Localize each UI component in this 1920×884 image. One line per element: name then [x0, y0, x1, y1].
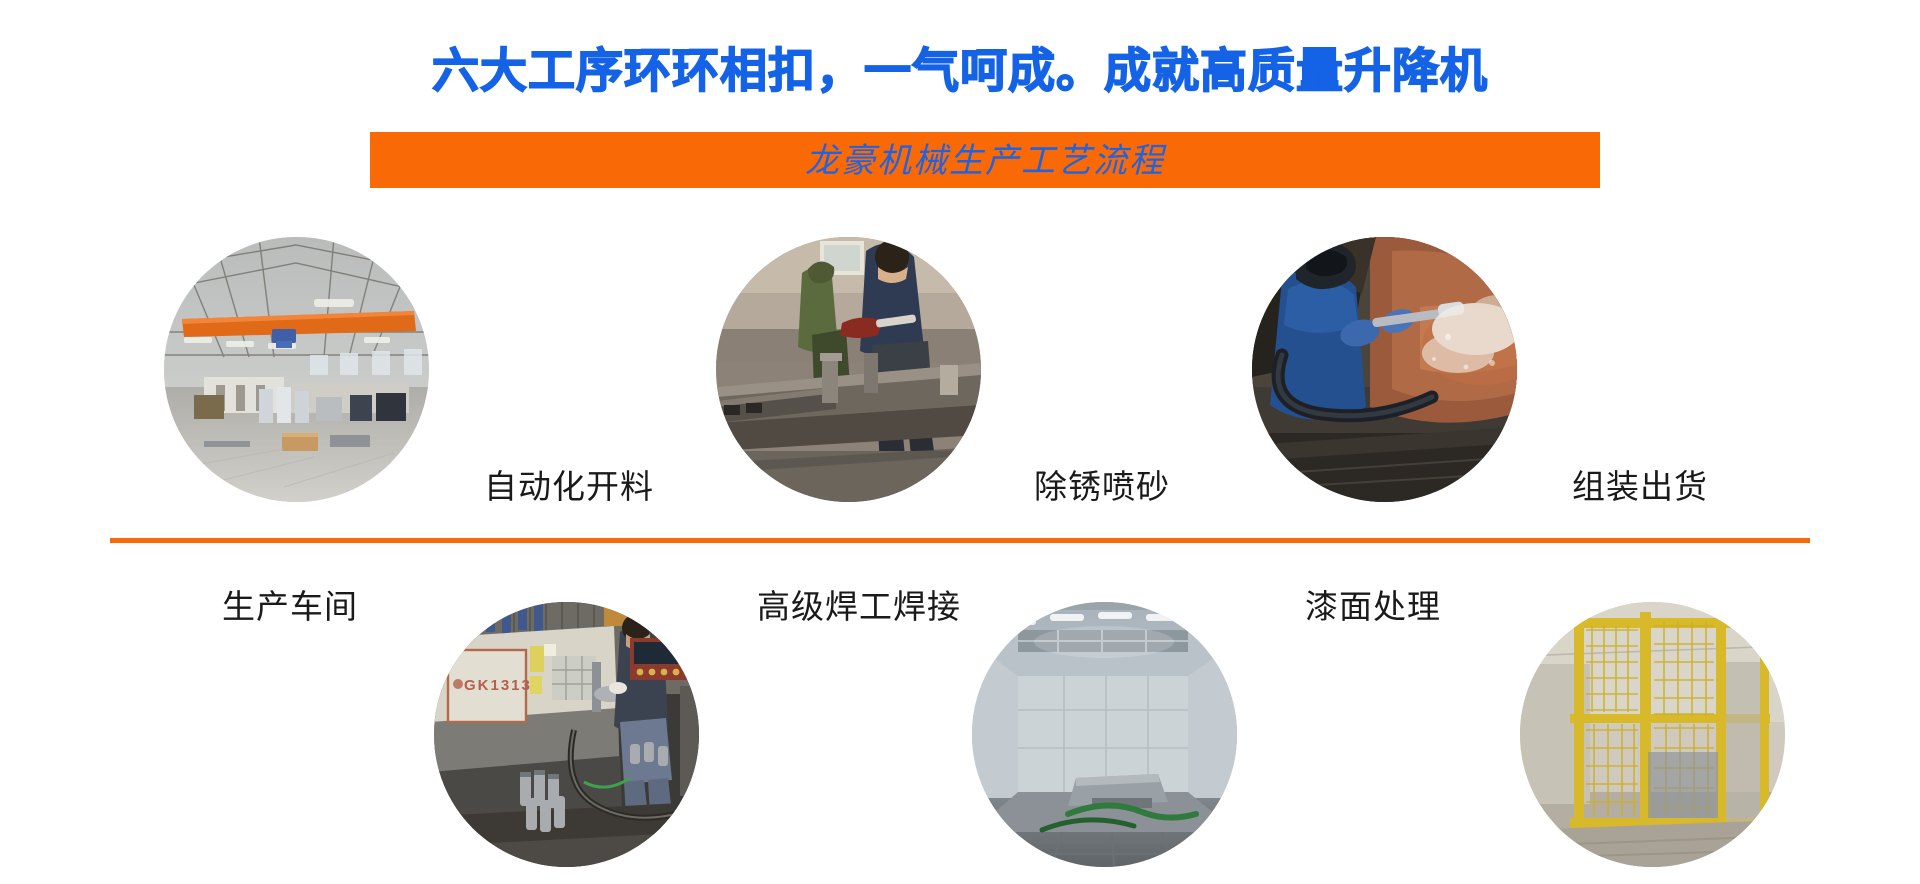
process-infographic: 六大工序环环相扣，一气呵成。成就高质量升降机 龙豪机械生产工艺流程	[0, 0, 1920, 884]
photo-auto-cutting	[716, 237, 981, 502]
step-label-sandblasting: 除锈喷砂	[1034, 467, 1170, 507]
step-label-welding: 高级焊工焊接	[757, 587, 961, 627]
photo-welding: GK1313	[434, 602, 699, 867]
photo-sandblasting	[1252, 237, 1517, 502]
assembly-shipping-image	[1520, 602, 1785, 867]
painting-image	[972, 602, 1237, 867]
welding-image: GK1313	[434, 602, 699, 867]
sandblasting-image	[1252, 237, 1517, 502]
step-label-assembly-shipping: 组装出货	[1572, 467, 1708, 507]
row-divider	[110, 538, 1810, 543]
photo-workshop	[164, 237, 429, 502]
auto-cutting-image	[716, 237, 981, 502]
section-banner-label: 龙豪机械生产工艺流程	[805, 141, 1165, 181]
svg-text:GK1313: GK1313	[464, 677, 532, 694]
photo-assembly-shipping	[1520, 602, 1785, 867]
section-banner: 龙豪机械生产工艺流程	[370, 132, 1600, 188]
page-title: 六大工序环环相扣，一气呵成。成就高质量升降机	[0, 42, 1920, 100]
workshop-image	[164, 237, 429, 502]
step-label-auto-cutting: 自动化开料	[484, 467, 654, 507]
photo-painting	[972, 602, 1237, 867]
step-label-painting: 漆面处理	[1305, 587, 1441, 627]
step-label-workshop: 生产车间	[222, 587, 358, 627]
